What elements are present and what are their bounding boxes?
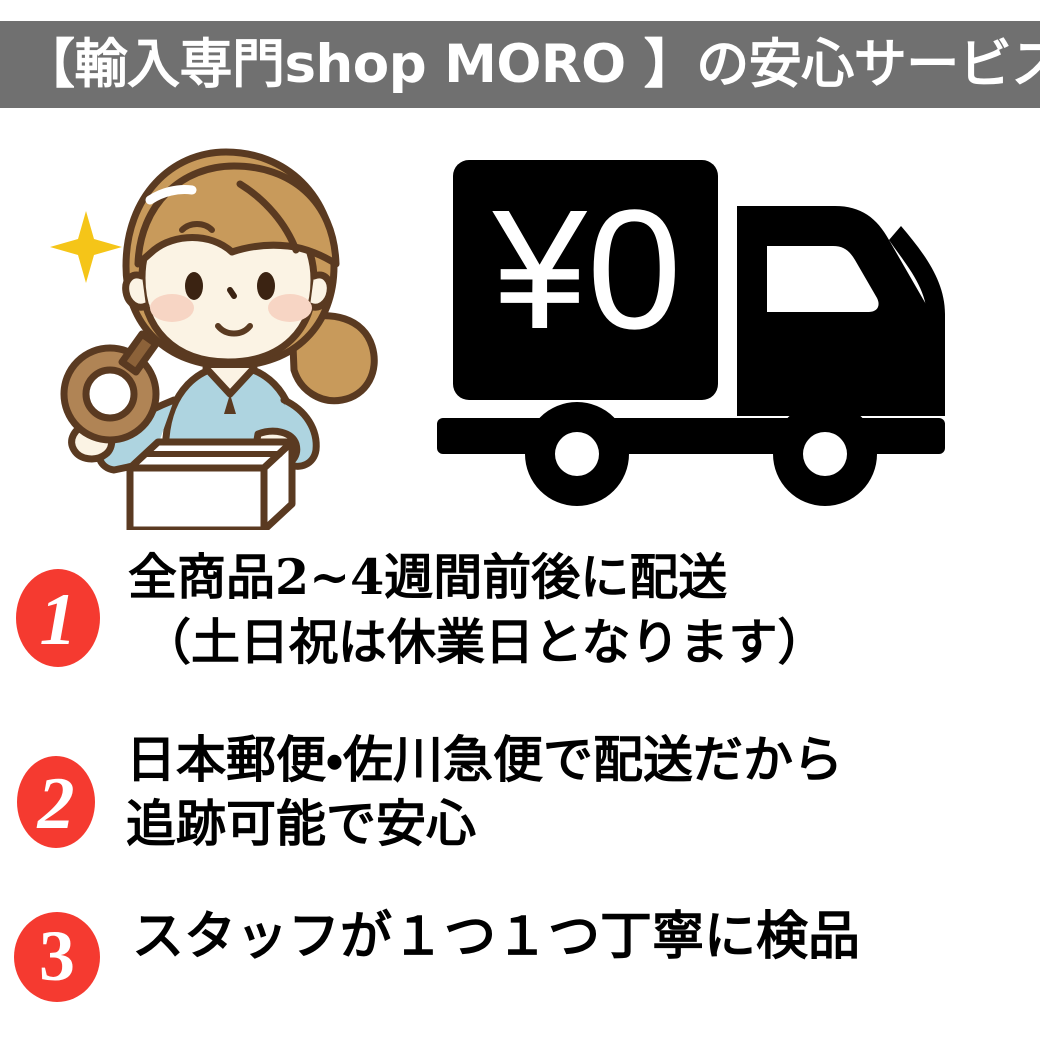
list-item: 3 スタッフが１つ１つ丁寧に検品 xyxy=(0,904,1040,1024)
benefit-line: 日本郵便・佐川急便で配送だから xyxy=(126,734,1040,786)
benefit-number-badge: 1 xyxy=(14,568,102,668)
list-item: 2 日本郵便・佐川急便で配送だから 追跡可能で安心 xyxy=(0,732,1040,904)
badge-number: 1 xyxy=(40,583,77,657)
benefit-text: スタッフが１つ１つ丁寧に検品 xyxy=(100,904,1040,964)
benefits-list: 1 全商品2~4週間前後に配送 （土日祝は休業日となります） 2 日本郵便・佐川… xyxy=(0,546,1040,1024)
service-info-graphic: 【輸入専門shop MORO 】の安心サービス xyxy=(0,0,1040,1040)
list-item: 1 全商品2~4週間前後に配送 （土日祝は休業日となります） xyxy=(0,546,1040,732)
benefit-text: 全商品2~4週間前後に配送 （土日祝は休業日となります） xyxy=(102,546,1040,668)
header-banner: 【輸入専門shop MORO 】の安心サービス xyxy=(0,21,1040,108)
badge-number: 2 xyxy=(38,767,75,841)
sparkle-icon xyxy=(50,211,122,283)
woman-inspecting-package-illustration xyxy=(34,138,414,530)
benefit-number-badge: 3 xyxy=(14,912,100,1002)
benefit-line: 追跡可能で安心 xyxy=(126,798,1040,850)
badge-number: 3 xyxy=(39,920,75,992)
benefit-line: 全商品2~4週間前後に配送 xyxy=(128,552,1040,603)
benefit-text: 日本郵便・佐川急便で配送だから 追跡可能で安心 xyxy=(96,732,1040,850)
benefit-line: （土日祝は休業日となります） xyxy=(128,617,1040,668)
benefit-line: スタッフが１つ１つ丁寧に検品 xyxy=(132,910,1040,964)
benefit-number-badge: 2 xyxy=(16,756,96,848)
truck-price-label: ¥0 xyxy=(491,175,681,365)
free-shipping-truck-icon: ¥0 xyxy=(415,148,1015,513)
page-title: 【輸入専門shop MORO 】の安心サービス xyxy=(22,38,1040,91)
illustration-zone: ¥0 xyxy=(0,120,1040,530)
